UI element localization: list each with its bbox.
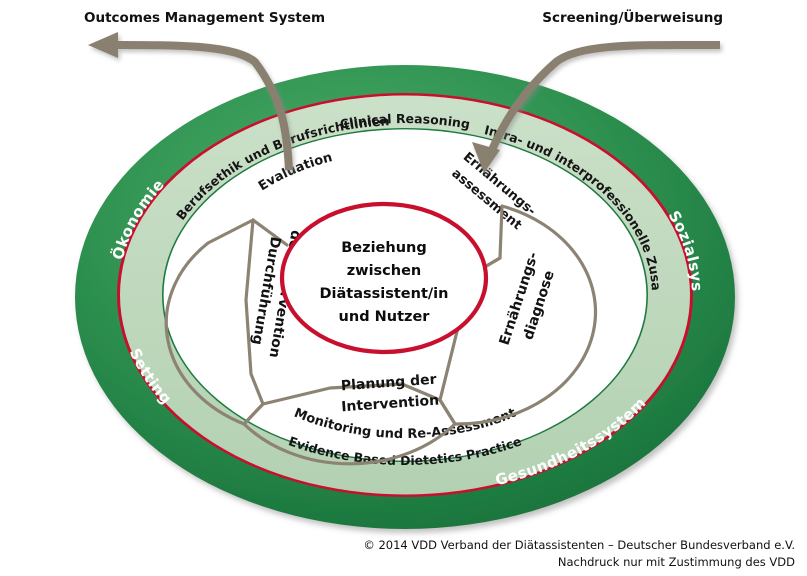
core-line-1: Beziehung	[341, 240, 426, 256]
copyright-line-2: Nachdruck nur mit Zustimmung des VDD	[558, 555, 795, 569]
outbound-arrowhead-icon	[88, 32, 118, 58]
label-screening-ueberweisung: Screening/Überweisung	[542, 8, 723, 26]
core-line-2: zwischen	[347, 263, 422, 279]
core-line-3: Diätassistent/in	[320, 286, 449, 302]
vdd-process-diagram: Ökonomie Sozialsystem Setting Gesundheit…	[0, 0, 807, 576]
label-outcomes-management-system: Outcomes Management System	[84, 10, 325, 26]
copyright-line-1: © 2014 VDD Verband der Diätassistenten –…	[363, 538, 795, 552]
relationship-core: Beziehung zwischen Diätassistent/in und …	[282, 204, 486, 352]
core-line-4: und Nutzer	[339, 309, 431, 325]
